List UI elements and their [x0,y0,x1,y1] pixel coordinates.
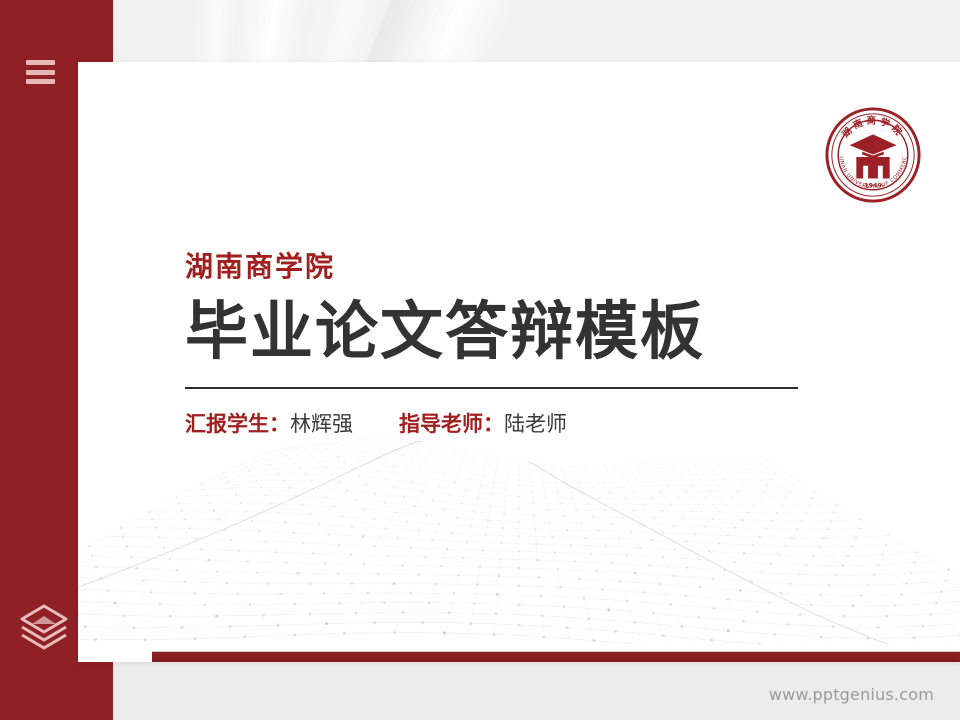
slide-viewer: 湖南商学院 HUNAN UNIVERSITY OF COMMERCE ·1949… [0,0,960,720]
title-block: 湖南商学院 毕业论文答辩模板 汇报学生：林辉强指导老师：陆老师 [185,252,905,437]
page-title: 毕业论文答辩模板 [185,299,905,365]
card-bottom-red-bar [152,651,960,662]
university-name: 湖南商学院 [185,252,905,283]
credits-line: 汇报学生：林辉强指导老师：陆老师 [185,412,905,437]
wireframe-mesh-graphic [78,439,960,644]
seal-emblem [849,134,896,178]
advisor-name: 陆老师 [504,412,567,436]
advisor-label: 指导老师： [399,412,504,436]
title-divider [185,387,798,389]
layers-fill [32,616,56,624]
hamburger-menu-icon[interactable] [26,60,55,84]
student-name: 林辉强 [290,412,353,436]
slide-card: 湖南商学院 HUNAN UNIVERSITY OF COMMERCE ·1949… [78,62,960,662]
student-label: 汇报学生： [185,412,290,436]
menu-bar [26,79,55,84]
seal-year: ·1949· [862,181,885,189]
university-seal-logo: 湖南商学院 HUNAN UNIVERSITY OF COMMERCE ·1949… [824,106,922,204]
watermark-url: www.pptgenius.com [769,685,934,704]
menu-bar [26,60,55,65]
menu-bar [26,70,55,75]
stacked-layers-icon[interactable] [16,600,72,652]
